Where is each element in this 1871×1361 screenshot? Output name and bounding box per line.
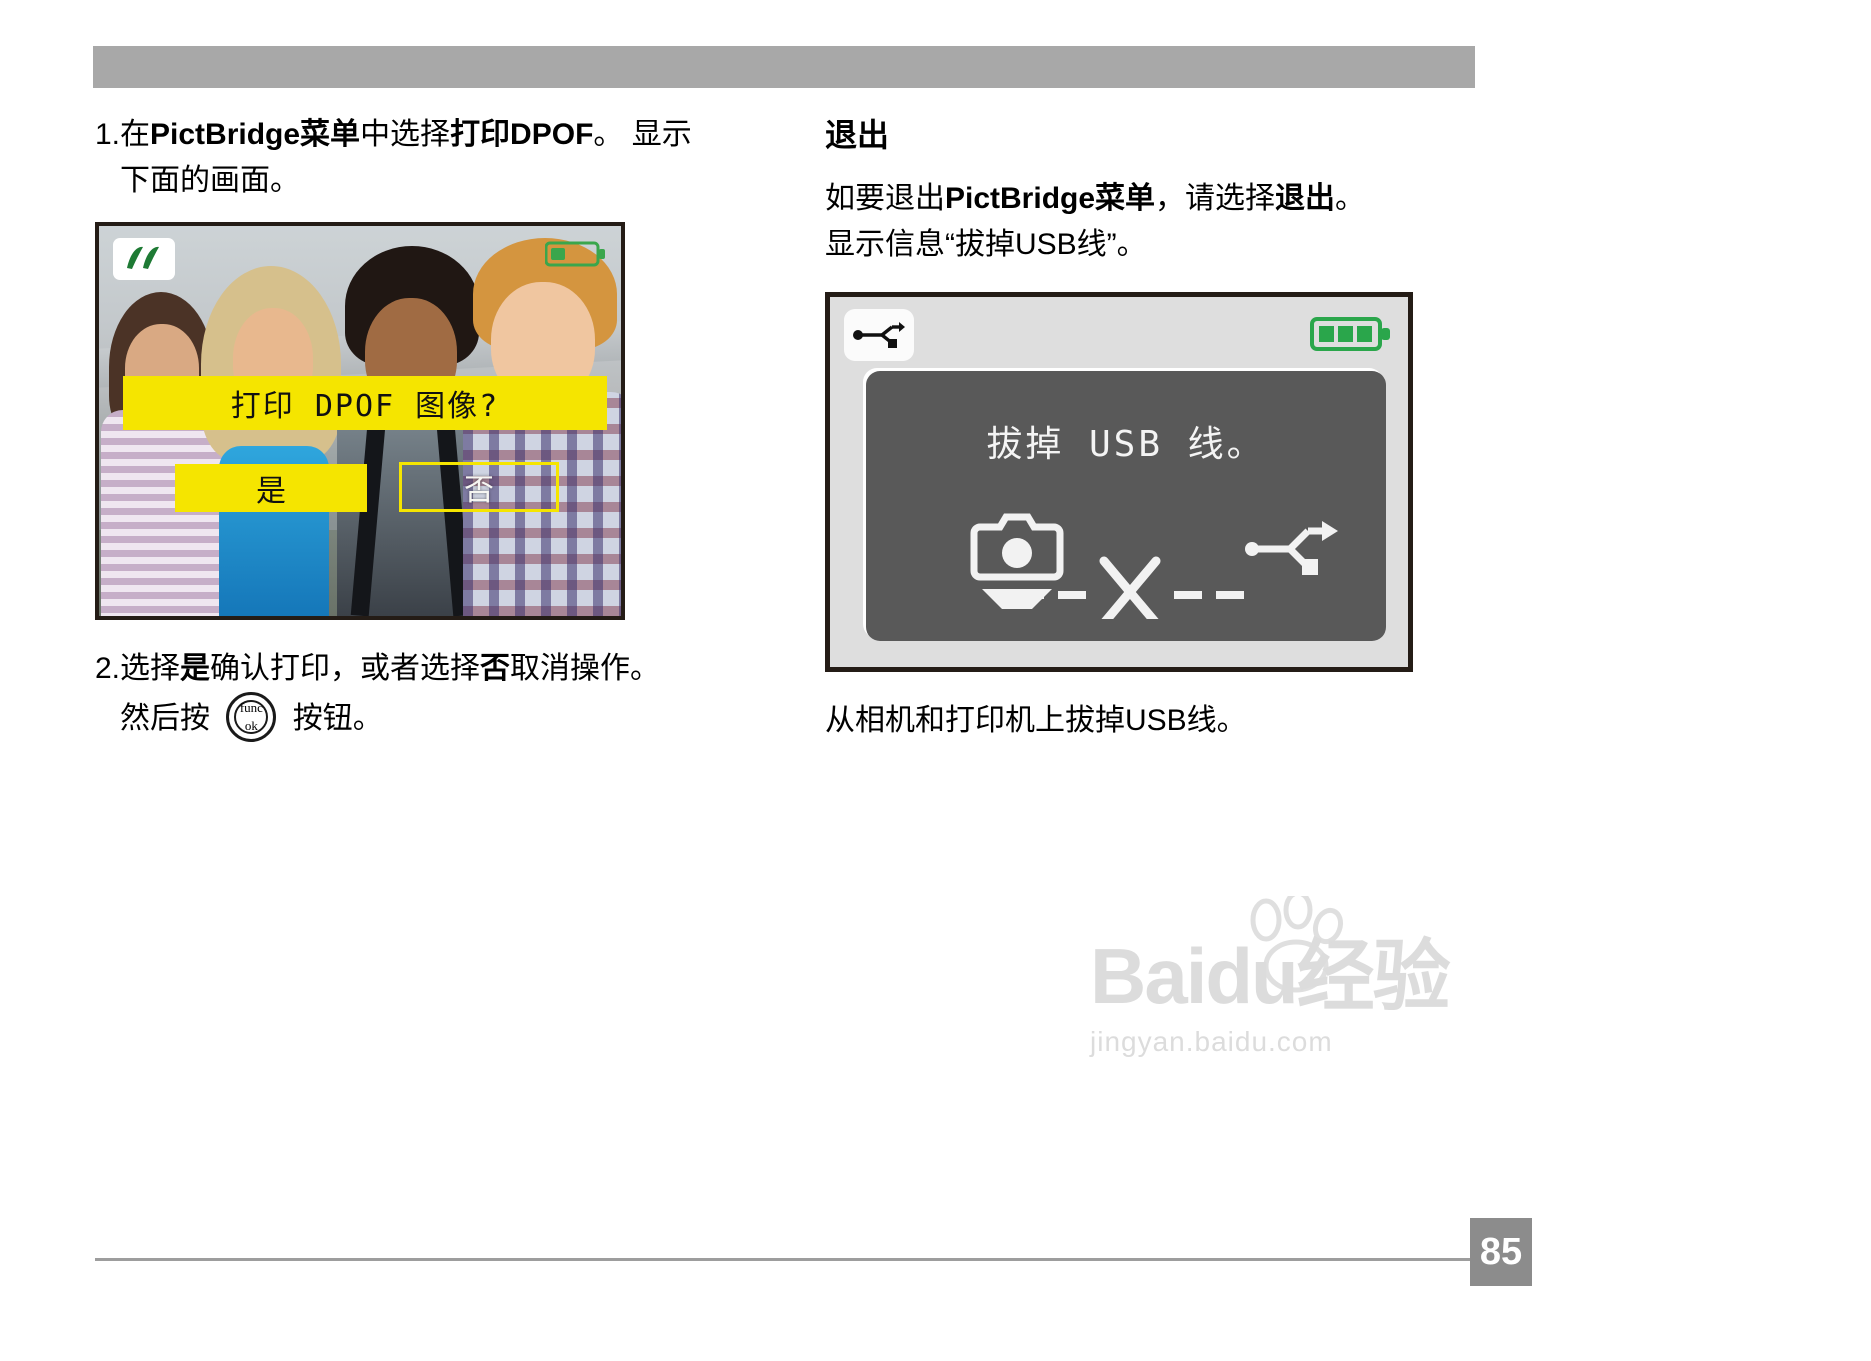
usb-plug-icon	[1245, 521, 1338, 611]
step1-suffix: 。 显示	[593, 118, 691, 151]
step2-bold-yes: 是	[180, 652, 210, 685]
step-2-text: 选择是确认打印，或者选择否取消操作。 然后按 func ok 按钮。	[120, 646, 815, 742]
step2-suffix: 取消操作。	[510, 652, 660, 685]
battery-icon	[545, 240, 607, 268]
step2-line2-prefix: 然后按	[120, 702, 210, 735]
usb-disconnect-diagram	[866, 499, 1386, 619]
exit-mid: ，请选择	[1155, 182, 1275, 215]
lcd-photo-bezel: 打印 DPOF 图像? 是 否	[95, 222, 625, 620]
step-2: 2. 选择是确认打印，或者选择否取消操作。 然后按 func ok 按钮。	[95, 646, 815, 742]
usb-icon	[844, 309, 914, 361]
step1-bold-dpof: 打印DPOF	[450, 118, 593, 151]
section-heading-exit: 退出	[825, 112, 1485, 158]
step2-prefix: 选择	[120, 652, 180, 685]
lcd-usb-screenshot: 拔掉 USB 线。	[825, 292, 1413, 672]
right-column: 退出 如要退出PictBridge菜单，请选择退出。 显示信息“拔掉USB线”。	[825, 112, 1485, 744]
exit-prefix: 如要退出	[825, 182, 945, 215]
exit-suffix: 。	[1335, 182, 1365, 215]
header-bar	[93, 46, 1475, 88]
dpof-dialog-title: 打印 DPOF 图像?	[123, 376, 607, 430]
cross-icon	[1104, 561, 1156, 619]
baidu-watermark: Baidu经验 jingyan.baidu.com	[1090, 930, 1520, 1090]
step1-prefix: 在	[120, 118, 150, 151]
step1-mid: 中选择	[360, 118, 450, 151]
step2-line2-suffix: 按钮。	[293, 702, 383, 735]
usb-message-panel: 拔掉 USB 线。	[866, 371, 1386, 641]
exit-bold-menu: PictBridge菜单	[945, 182, 1155, 215]
scene-mode-icon	[113, 238, 175, 280]
dpof-no-button[interactable]: 否	[399, 462, 559, 512]
battery-full-icon	[1310, 315, 1392, 353]
lcd-usb-bezel: 拔掉 USB 线。	[825, 292, 1413, 672]
step-2-number: 2.	[95, 646, 120, 692]
step1-line2: 下面的画面。	[120, 164, 300, 197]
usb-message-text: 拔掉 USB 线。	[866, 415, 1386, 467]
page-number-badge: 85	[1470, 1218, 1532, 1286]
usb-caption: 从相机和打印机上拔掉USB线。	[825, 698, 1485, 744]
func-ok-label-bottom: ok	[229, 719, 273, 732]
child-figure	[195, 264, 345, 616]
step-1-text: 在PictBridge菜单中选择打印DPOF。 显示 下面的画面。	[120, 112, 815, 204]
step1-bold-menu: PictBridge菜单	[150, 118, 360, 151]
dpof-yes-button[interactable]: 是	[175, 464, 367, 512]
step-1-number: 1.	[95, 112, 120, 158]
exit-paragraph-line2: 显示信息“拔掉USB线”。	[825, 228, 1147, 261]
watermark-brand: Baidu经验	[1090, 930, 1520, 1022]
footer-rule	[95, 1258, 1475, 1261]
func-ok-button-icon: func ok	[226, 692, 276, 742]
step2-bold-no: 否	[480, 652, 510, 685]
watermark-url: jingyan.baidu.com	[1090, 1026, 1520, 1058]
exit-paragraph: 如要退出PictBridge菜单，请选择退出。 显示信息“拔掉USB线”。	[825, 176, 1485, 268]
step-1: 1. 在PictBridge菜单中选择打印DPOF。 显示 下面的画面。	[95, 112, 815, 204]
paw-icon	[1240, 896, 1350, 996]
func-ok-label-top: func	[229, 701, 273, 714]
exit-bold-exit: 退出	[1275, 182, 1335, 215]
manual-page: 1. 在PictBridge菜单中选择打印DPOF。 显示 下面的画面。	[0, 0, 1871, 1361]
lcd-photo-screenshot: 打印 DPOF 图像? 是 否	[95, 222, 625, 620]
left-column: 1. 在PictBridge菜单中选择打印DPOF。 显示 下面的画面。	[95, 112, 815, 742]
step2-mid: 确认打印，或者选择	[210, 652, 480, 685]
